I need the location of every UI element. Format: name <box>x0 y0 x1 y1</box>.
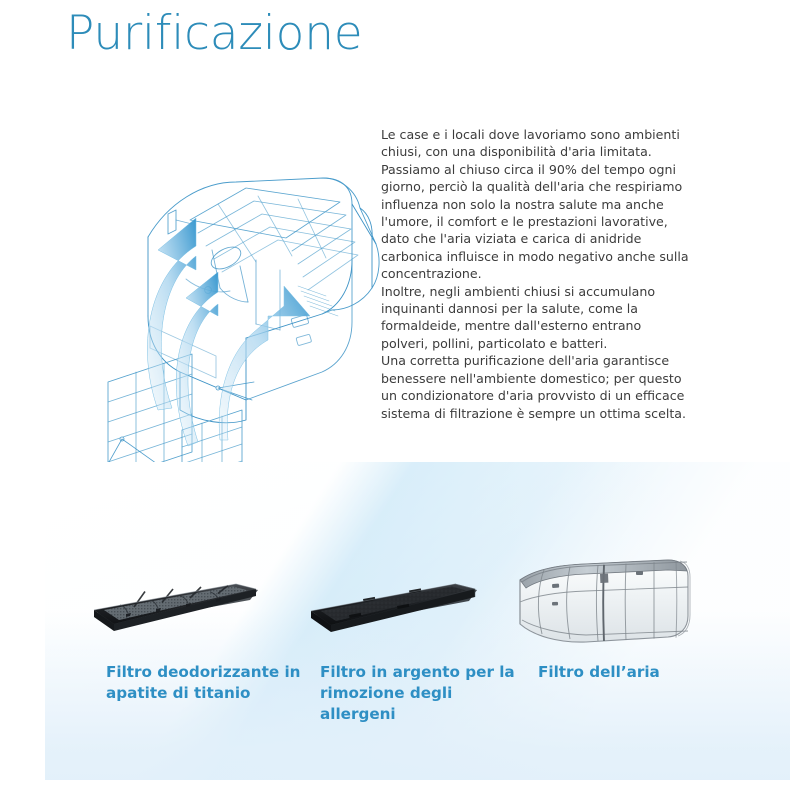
article-paragraph-1: Le case e i locali dove lavoriamo sono a… <box>381 126 691 283</box>
curved-air-filter-icon <box>508 558 698 646</box>
product-image-filtro-deodorizzante <box>90 578 262 640</box>
product-caption-filtro-argento: Filtro in argento per la rimozione degli… <box>320 662 525 725</box>
page-root: Purificazione Le case e i locali dove la… <box>0 0 800 800</box>
product-caption-filtro-deodorizzante: Filtro deodorizzante in apatite di titan… <box>106 662 321 704</box>
product-image-filtro-aria <box>508 558 698 646</box>
article-paragraph-2: Inoltre, negli ambienti chiusi si accumu… <box>381 283 691 353</box>
air-conditioner-line-art-icon <box>40 110 390 470</box>
product-caption-filtro-aria: Filtro dell’aria <box>538 662 758 683</box>
product-image-filtro-argento <box>305 578 485 640</box>
page-title: Purificazione <box>66 6 363 61</box>
airflow-arrow-icon <box>147 218 310 446</box>
air-conditioner-diagram: Filtro deodorizzante all'apatite di Tita… <box>40 110 390 470</box>
mesh-filter-panel-icon <box>90 578 262 640</box>
charcoal-filter-panel-icon <box>305 578 485 640</box>
article-text: Le case e i locali dove lavoriamo sono a… <box>381 126 691 422</box>
article-paragraph-3: Una corretta purificazione dell'aria gar… <box>381 352 691 422</box>
